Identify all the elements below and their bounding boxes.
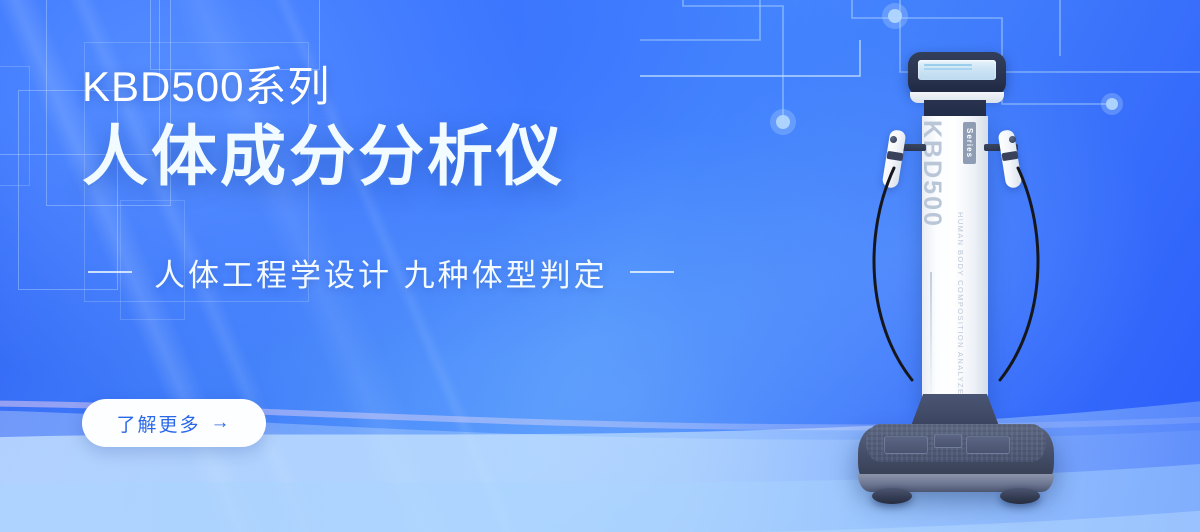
device-cables [846,112,1146,412]
device-screen-content [924,64,972,73]
foot-electrode-center [934,434,962,448]
arrow-right-icon: → [211,412,232,434]
hero-copy: KBD500系列 人体成分分析仪 人体工程学设计 九种体型判定 [82,66,702,295]
subtitle-row: 人体工程学设计 九种体型判定 [82,250,702,295]
product-series-label: KBD500系列 [82,66,702,108]
page-title: 人体成分分析仪 [82,122,702,192]
learn-more-button[interactable]: 了解更多 → [82,399,266,447]
foot-electrode-right [966,436,1010,454]
dash-left-icon [88,271,132,273]
product-image-kbd500: KBD500 Series HUMAN BODY COMPOSITION ANA… [846,42,1146,512]
dash-right-icon [630,271,674,273]
hero-subtitle: 人体工程学设计 九种体型判定 [154,250,608,295]
learn-more-label: 了解更多 [116,410,200,437]
device-foot-right [1000,488,1040,504]
foot-electrode-left [884,436,928,454]
hero-banner: KBD500系列 人体成分分析仪 人体工程学设计 九种体型判定 了解更多 → K… [0,0,1200,532]
device-foot-left [872,488,912,504]
